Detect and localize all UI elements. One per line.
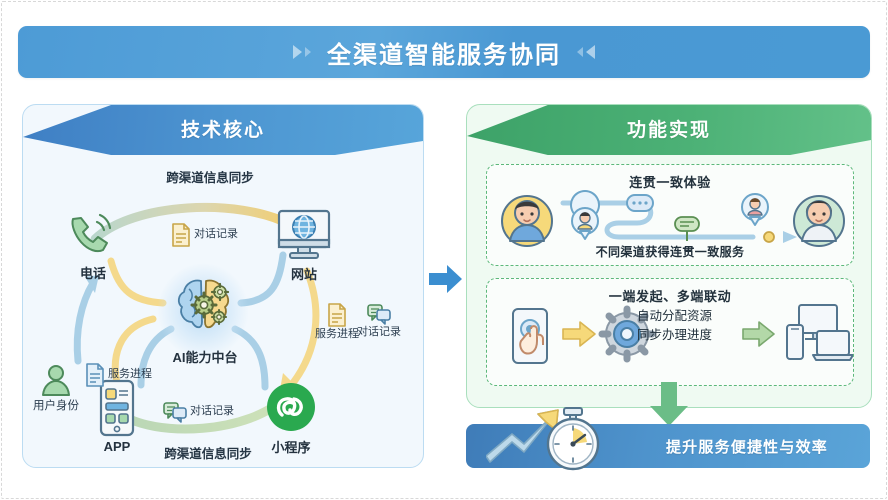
chat-icon [367,303,391,325]
monitor-globe-icon [273,207,335,268]
bottom-banner-icons [486,404,616,476]
user-icon [39,363,73,404]
smartphone-icon [95,379,139,444]
card-body-text: 自动分配资源 同步办理进度 [637,307,712,346]
document-icon [85,363,105,387]
route-arrow-head [783,231,797,243]
chat-icon [163,401,187,423]
trend-up-arrow-icon [486,410,558,462]
bottom-banner-text: 提升服务便捷性与效率 [666,436,828,457]
card-caption: 不同渠道获得连贯一致服务 [487,243,853,260]
chip-label: 对话记录 [357,326,401,339]
feature-card-multi-device-linkage: 一端发起、多端联动 [486,278,854,386]
chip-service-process-right: 服务进程 [315,303,359,341]
avatar-female-icon [794,196,844,246]
brain-gears-icon [171,275,237,344]
sync-label-top: 跨渠道信息同步 [135,171,285,186]
chip-label: 对话记录 [190,405,234,418]
page-title: 全渠道智能服务协同 [327,35,561,70]
card-body-line2: 同步办理进度 [637,326,712,345]
feature-card-consistent-experience: 连贯一致体验 [486,164,854,266]
phone-icon [63,209,119,266]
user-identity-label: 用户身份 [33,399,79,413]
avatar-pin-small-1 [571,191,599,239]
chip-dialog-record-top: 对话记录 [171,223,238,247]
right-panel-title: 功能实现 [467,105,871,151]
infographic-canvas: 全渠道智能服务协同 技术核心 [0,0,888,500]
channel-label-phone: 电话 [69,263,117,282]
chip-service-process-left: 服务进程 [85,363,152,387]
avatar-pin-small-2 [742,194,768,225]
chip-dialog-record-right: 对话记录 [357,303,401,339]
title-banner: 全渠道智能服务协同 [18,26,870,78]
triangle-left-icon [577,45,595,59]
ai-hub-label: AI能力中台 [155,347,255,366]
sync-label-bottom: 跨渠道信息同步 [133,447,283,462]
mini-program-icon [263,379,319,440]
left-panel-title: 技术核心 [23,105,423,151]
chip-label: 服务进程 [315,328,359,341]
technology-core-diagram: 电话 网站 [23,151,423,467]
avatar-male-icon [502,196,552,246]
arrow-right-icon [428,262,464,296]
document-icon [171,223,191,247]
chip-label: 对话记录 [194,228,238,241]
multi-device-icon [787,305,853,360]
arrow-down-icon [646,382,692,428]
arrow-right-green-icon [743,322,774,346]
triangle-right-icon [293,45,311,59]
arrow-right-yellow-icon [563,322,595,346]
channel-label-website: 网站 [280,264,328,283]
route-end-node [764,232,774,242]
hand-tap-phone-icon [513,309,547,363]
card-body-line1: 自动分配资源 [637,307,712,326]
left-panel: 技术核心 [22,104,424,468]
chip-label: 服务进程 [108,368,152,381]
document-icon [327,303,347,327]
chip-dialog-record-bottom: 对话记录 [163,401,234,423]
